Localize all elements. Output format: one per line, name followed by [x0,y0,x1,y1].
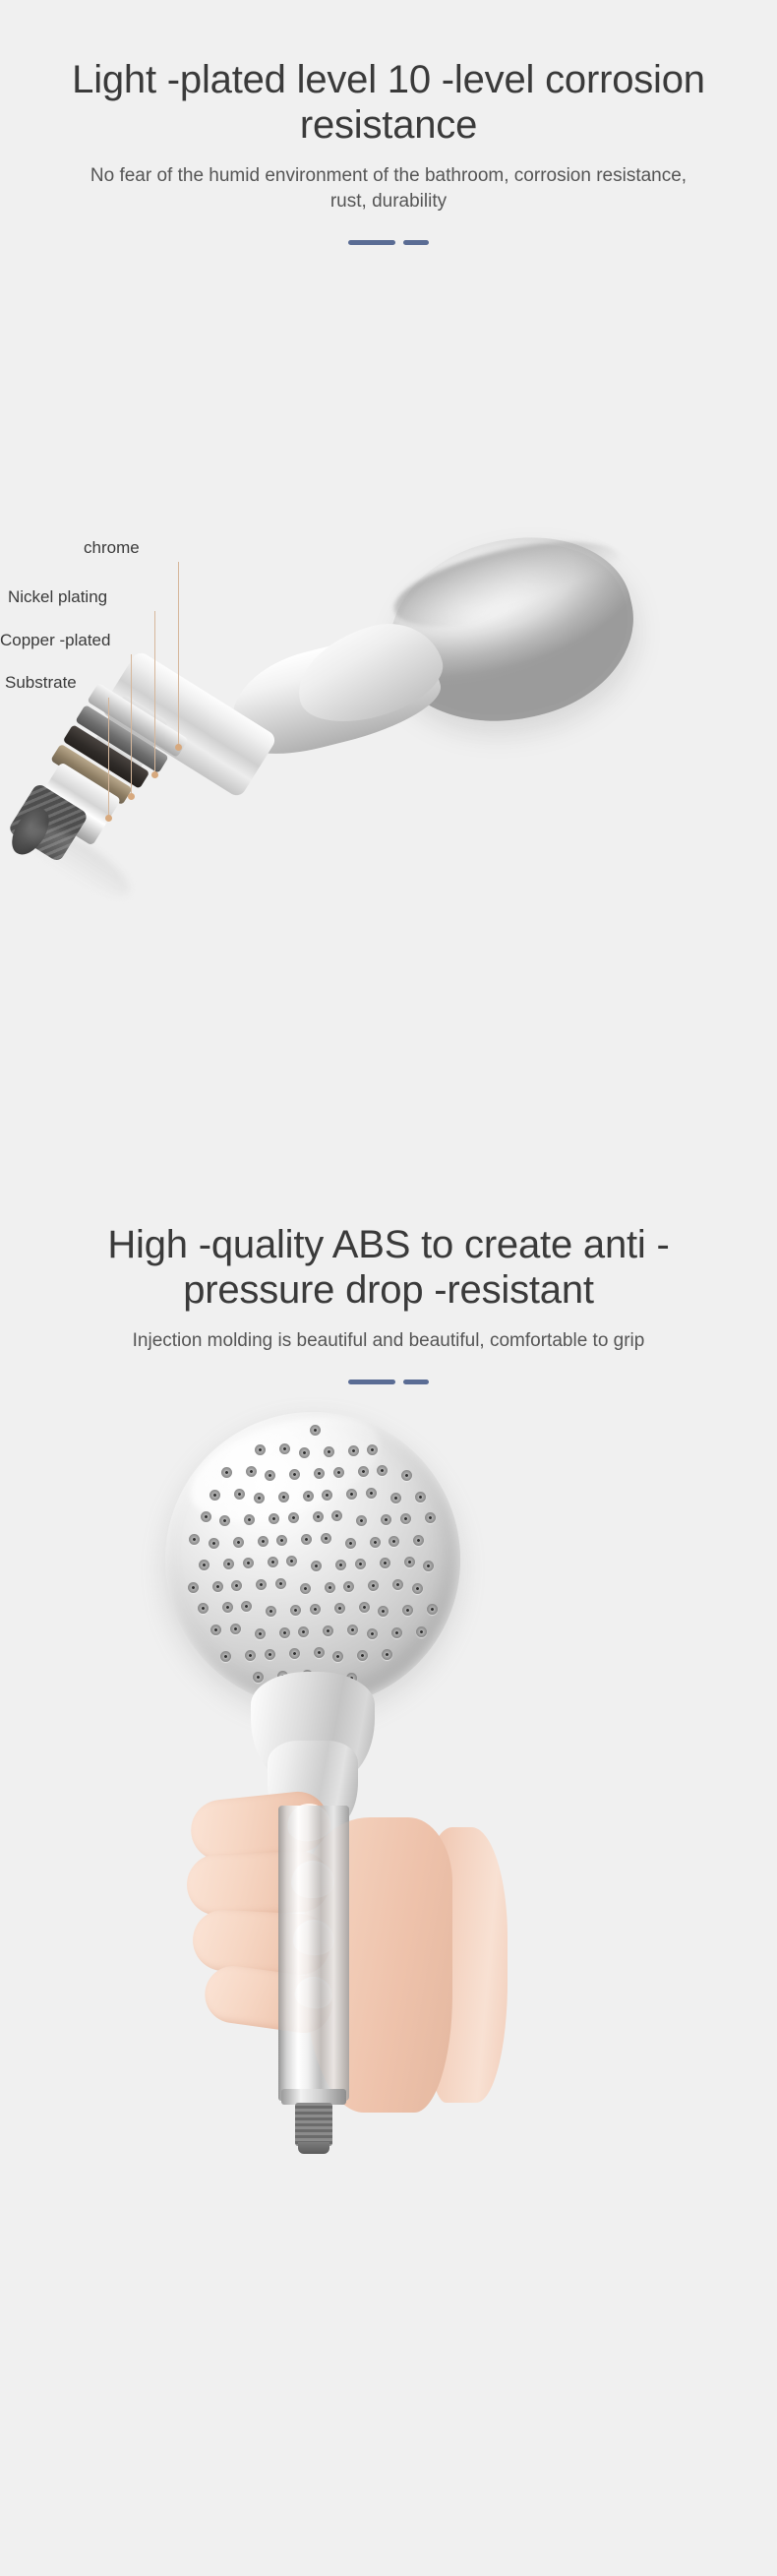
nozzle-hole [348,1445,359,1456]
nozzle-hole [325,1582,335,1593]
nozzle-hole [279,1627,290,1638]
showerhead-spray-face [165,1412,460,1707]
nozzle-hole [220,1651,231,1662]
nozzle-hole [268,1557,278,1567]
nozzle-hole [189,1534,200,1545]
nozzle-hole [412,1583,423,1594]
nozzle-hole [265,1649,275,1660]
callout-label-substrate: Substrate [5,673,77,693]
nozzle-hole [322,1490,332,1501]
section2-divider [0,1380,777,1384]
nozzle-hole [401,1470,412,1481]
nozzle-hole [355,1559,366,1569]
nozzle-hole [219,1515,230,1526]
nozzle-hole [255,1444,266,1455]
nozzle-hole [370,1537,381,1548]
nozzle-hole [314,1647,325,1658]
nozzle-hole [188,1582,199,1593]
nozzle-hole [279,1443,290,1454]
section1-heading: Light -plated level 10 -level corrosion … [0,57,777,148]
nozzle-hole [258,1536,269,1547]
section1-text-block: Light -plated level 10 -level corrosion … [0,0,777,245]
nozzle-hole [300,1583,311,1594]
nozzle-hole [332,1651,343,1662]
nozzle-hole [266,1606,276,1617]
nozzle-hole [298,1626,309,1637]
leader-line-substrate [108,698,109,818]
nozzle-hole [278,1492,289,1503]
nozzle-hole [423,1561,434,1571]
nozzle-hole [241,1601,252,1612]
nozzle-hole [303,1491,314,1502]
nozzle-hole [234,1489,245,1500]
nozzle-hole [378,1606,388,1617]
nozzle-hole [299,1447,310,1458]
divider-dash-short [403,240,429,245]
nozzle-hole [368,1580,379,1591]
nozzle-hole [425,1512,436,1523]
nozzle-hole [243,1558,254,1568]
nozzle-hole [256,1579,267,1590]
nozzle-hole [289,1469,300,1480]
nozzle-hole [323,1625,333,1636]
nozzle-hole [392,1579,403,1590]
nozzle-hole [199,1560,209,1570]
nozzle-hole [210,1625,221,1635]
showerhead-thread-tip [298,2142,329,2154]
nozzle-hole [367,1444,378,1455]
nozzle-hole [382,1649,392,1660]
nozzle-hole [301,1534,312,1545]
leader-dot-copper [128,793,135,800]
nozzle-hole [334,1603,345,1614]
nozzle-hole [223,1559,234,1569]
section2-subheading: Injection molding is beautiful and beaut… [0,1328,777,1354]
nozzle-hole [255,1628,266,1639]
nozzle-hole [209,1538,219,1549]
nozzle-hole [377,1465,388,1476]
showerhead-handle-front [278,1806,349,2101]
nozzle-hole [269,1513,279,1524]
nozzle-hole [222,1602,233,1613]
divider-dash-long [348,1380,395,1384]
nozzle-hole [246,1466,257,1477]
divider-dash-short [403,1380,429,1384]
nozzle-hole [404,1557,415,1567]
nozzle-hole [388,1536,399,1547]
leader-line-chrome [178,562,179,747]
nozzle-hole [358,1466,369,1477]
nozzle-hole [321,1533,331,1544]
nozzle-hole [311,1561,322,1571]
nozzle-hole [289,1648,300,1659]
nozzle-hole [413,1535,424,1546]
nozzle-hole [415,1492,426,1503]
nozzle-hole [380,1558,390,1568]
nozzle-hole [345,1538,356,1549]
section2-text-block: High -quality ABS to create anti -pressu… [0,1181,777,1384]
leader-line-nickel [154,611,155,774]
nozzle-hole [391,1627,402,1638]
nozzle-hole [427,1604,438,1615]
nozzle-hole [198,1603,209,1614]
nozzle-hole [402,1605,413,1616]
nozzle-hole [212,1581,223,1592]
nozzle-hole [400,1513,411,1524]
nozzle-hole [381,1514,391,1525]
section-corrosion-resistance: Light -plated level 10 -level corrosion … [0,0,777,1181]
product-detail-page: Light -plated level 10 -level corrosion … [0,0,777,2576]
callout-label-nickel: Nickel plating [8,587,107,607]
nozzle-hole [347,1625,358,1635]
nozzle-hole [346,1489,357,1500]
nozzle-hole [367,1628,378,1639]
section-abs-material: High -quality ABS to create anti -pressu… [0,1181,777,2576]
nozzle-hole [390,1493,401,1503]
nozzle-hole [221,1467,232,1478]
nozzle-hole [333,1467,344,1478]
section2-heading: High -quality ABS to create anti -pressu… [0,1222,777,1313]
showerhead-in-hand-image [0,1394,777,2437]
nozzle-hole [313,1511,324,1522]
section1-divider [0,240,777,245]
nozzle-hole [201,1511,211,1522]
nozzle-hole [286,1556,297,1566]
nozzle-hole [359,1602,370,1613]
nozzle-hole [357,1650,368,1661]
nozzle-hole [331,1510,342,1521]
nozzle-hole [254,1493,265,1503]
nozzle-hole [366,1488,377,1499]
nozzle-hole [290,1605,301,1616]
nozzle-hole [310,1425,321,1436]
nozzle-hole [314,1468,325,1479]
nozzle-hole [356,1515,367,1526]
nozzle-hole [233,1537,244,1548]
nozzle-hole [230,1624,241,1634]
leader-dot-chrome [175,744,182,751]
nozzle-hole [335,1560,346,1570]
nozzle-hole [245,1650,256,1661]
nozzle-hole [244,1514,255,1525]
section1-subheading: No fear of the humid environment of the … [0,163,777,215]
nozzle-hole [276,1535,287,1546]
leader-dot-nickel [151,771,158,778]
leader-line-copper [131,654,132,796]
nozzle-hole [343,1581,354,1592]
nozzle-hole [253,1672,264,1683]
nozzle-hole [310,1604,321,1615]
nozzle-hole [275,1578,286,1589]
nozzle-hole [416,1626,427,1637]
nozzle-hole [288,1512,299,1523]
nozzle-hole [265,1470,275,1481]
showerhead-cutaway-image [0,255,777,1032]
callout-label-chrome: chrome [84,538,140,558]
showerhead-threads [295,2103,332,2146]
nozzle-hole [231,1580,242,1591]
divider-dash-long [348,240,395,245]
layer-diagram: chrome Nickel plating Copper -plated Sub… [0,255,777,1032]
nozzle-hole [324,1446,334,1457]
callout-label-copper: Copper -plated [0,631,110,650]
nozzle-hole [209,1490,220,1501]
leader-dot-substrate [105,815,112,822]
